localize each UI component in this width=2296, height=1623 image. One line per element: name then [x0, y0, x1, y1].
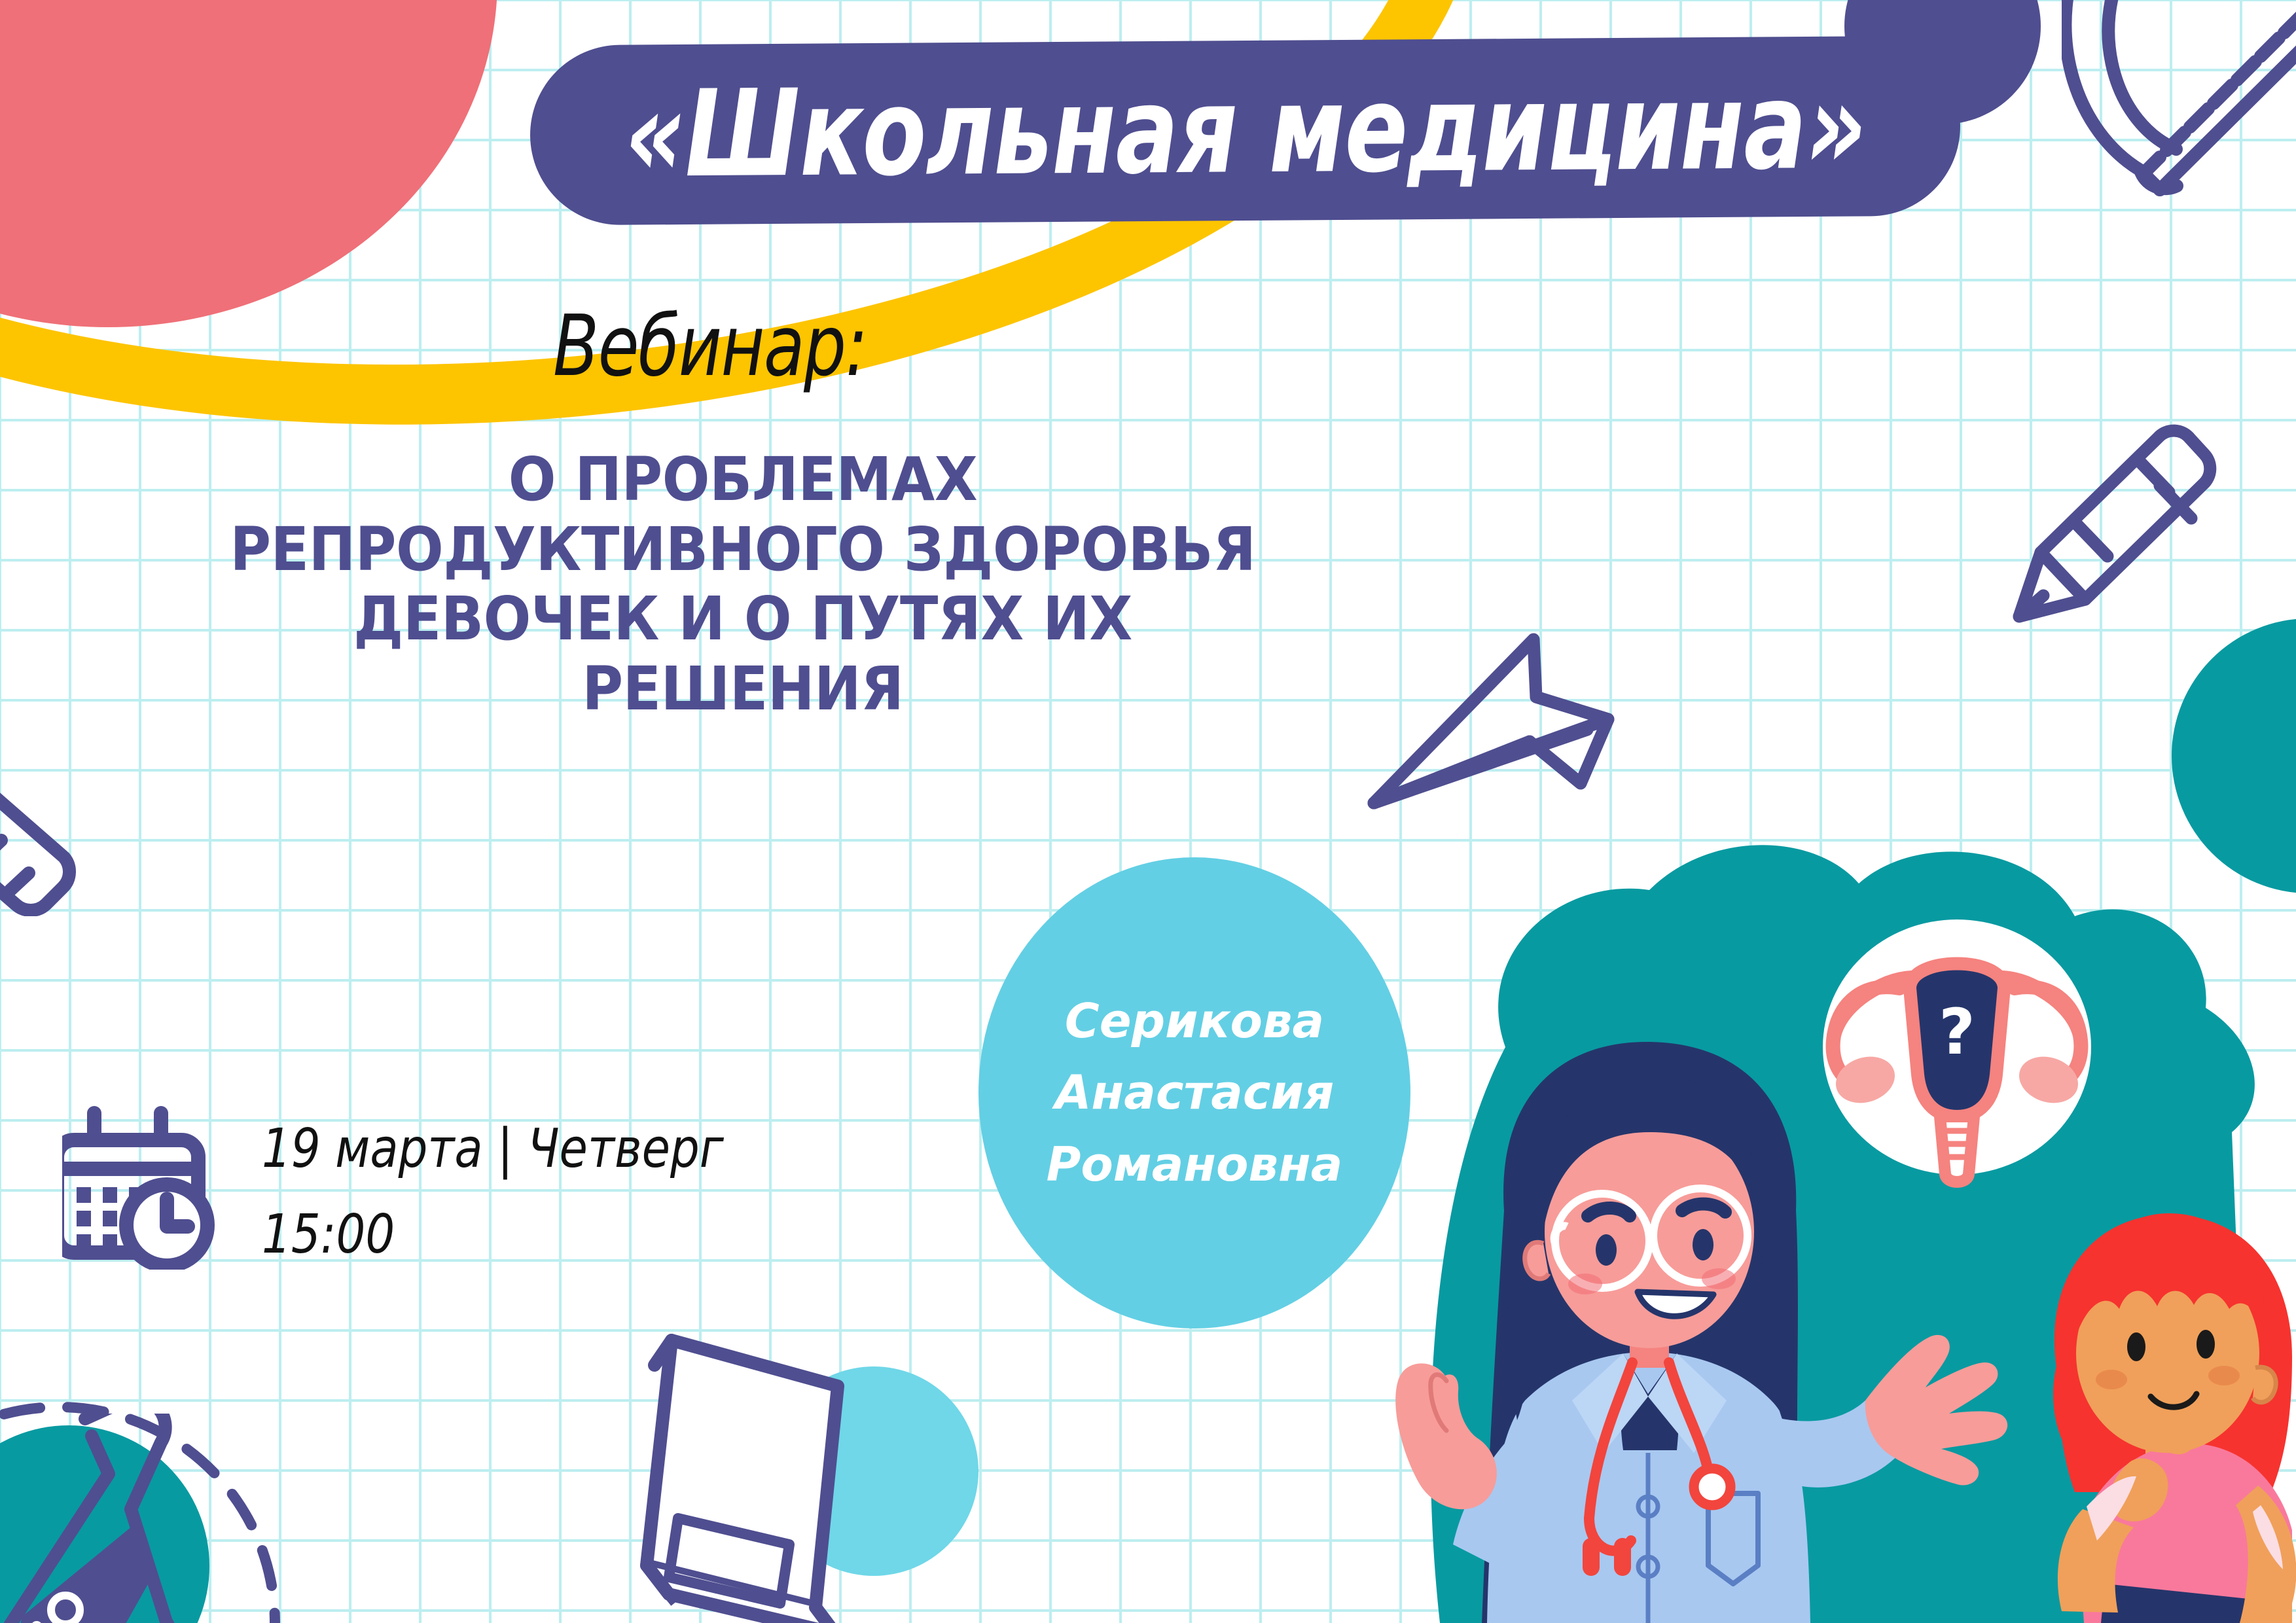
- webinar-label: Вебинар:: [553, 298, 867, 395]
- headline-line-2: РЕПРОДУКТИВНОГО ЗДОРОВЬЯ: [204, 515, 1282, 585]
- pencil-icon: [1983, 412, 2271, 635]
- headline-line-4: РЕШЕНИЯ: [204, 654, 1282, 724]
- headline-line-3: ДЕВОЧЕК И О ПУТЯХ ИХ: [204, 584, 1282, 654]
- schedule-block: 19 марта | Четверг 15:00: [262, 1106, 724, 1277]
- ruler-icon: [0, 668, 183, 916]
- speaker-patronymic: Романовна: [1047, 1129, 1343, 1200]
- title-banner: «Школьная медицина»: [529, 35, 1961, 225]
- paper-plane-icon: [1365, 632, 1626, 815]
- speaker-name: Серикова Анастасия Романовна: [1047, 986, 1343, 1200]
- flask-icon: [0, 1414, 255, 1623]
- speaker-surname: Серикова: [1047, 986, 1343, 1057]
- poster-canvas: ?: [0, 0, 2296, 1623]
- svg-text:?: ?: [1939, 995, 1975, 1069]
- headline-line-1: О ПРОБЛЕМАХ: [204, 445, 1282, 515]
- book-icon: [576, 1322, 916, 1623]
- calendar-clock-icon: [62, 1106, 232, 1270]
- headline: О ПРОБЛЕМАХ РЕПРОДУКТИВНОГО ЗДОРОВЬЯ ДЕВ…: [204, 445, 1282, 724]
- schedule-date: 19 марта | Четверг: [262, 1106, 724, 1192]
- speaker-badge: Серикова Анастасия Романовна: [978, 857, 1410, 1329]
- speaker-firstname: Анастасия: [1047, 1057, 1343, 1128]
- illustration-doctor-and-girl: ?: [1342, 792, 2296, 1623]
- schedule-time: 15:00: [262, 1192, 724, 1277]
- banner-title-text: «Школьная медицина»: [624, 66, 1866, 194]
- protractor-icon: [2062, 0, 2296, 249]
